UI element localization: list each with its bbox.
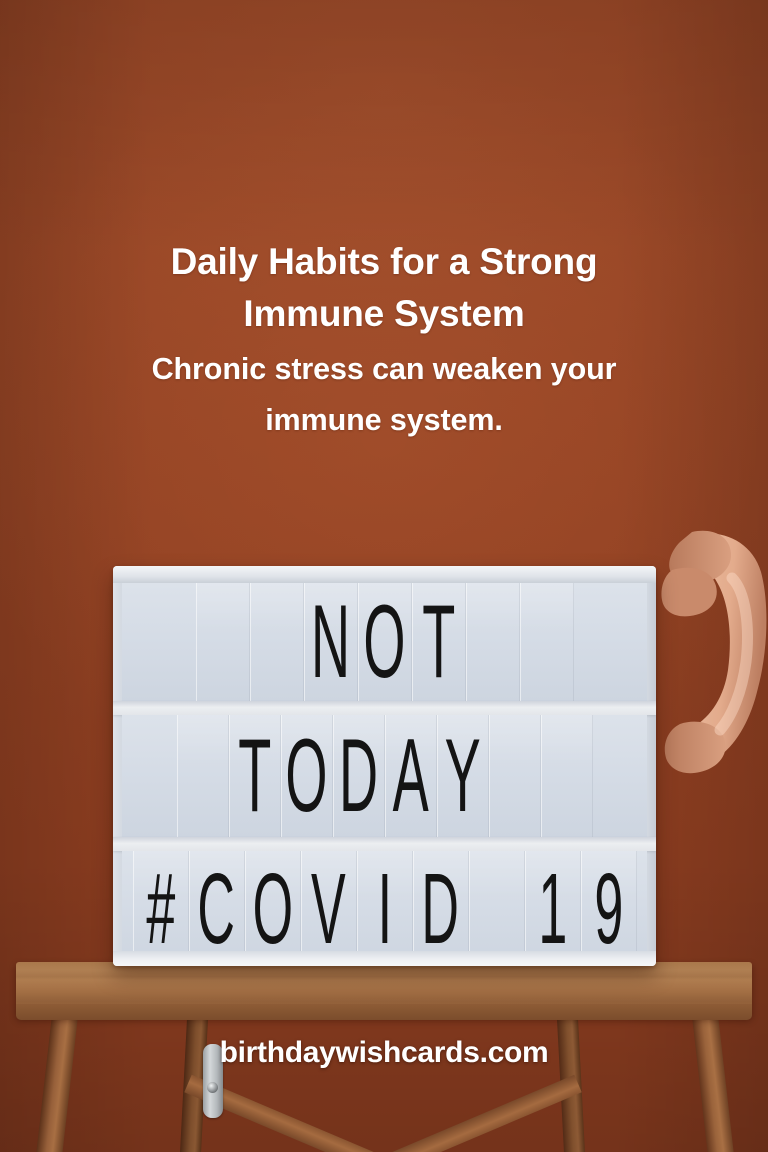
letter-tile bbox=[250, 583, 304, 701]
stool-seat-front-edge bbox=[16, 1004, 752, 1020]
letter-tile bbox=[196, 583, 250, 701]
letter-tile: T bbox=[412, 583, 466, 701]
lightbox-row-2-tiles: T O D A Y bbox=[122, 715, 647, 837]
letter-tile-strip: N O T bbox=[196, 583, 574, 701]
lightbox-top-rail bbox=[113, 566, 656, 583]
lightbox-row-3: # C O V I D 1 9 bbox=[122, 851, 647, 966]
subheadline-line-1: Chronic stress can weaken your bbox=[48, 344, 720, 395]
letter-tile: Y bbox=[437, 715, 489, 837]
text-overlay: Daily Habits for a Strong Immune System … bbox=[0, 236, 768, 446]
lightbox-divider-2 bbox=[113, 837, 656, 851]
letter-tile: D bbox=[333, 715, 385, 837]
lightbox-row-3-tiles: # C O V I D 1 9 bbox=[122, 851, 647, 966]
stool-hinge-screw bbox=[207, 1082, 218, 1093]
letter-tile: O bbox=[358, 583, 412, 701]
letter-tile bbox=[489, 715, 541, 837]
lightbox-bottom-rail bbox=[113, 951, 656, 966]
letter-tile: T bbox=[229, 715, 281, 837]
lightbox-divider-1 bbox=[113, 701, 656, 715]
letter-tile bbox=[520, 583, 574, 701]
letter-tile bbox=[469, 851, 525, 966]
letter-tile: O bbox=[245, 851, 301, 966]
letter-tile bbox=[466, 583, 520, 701]
headline-line-1: Daily Habits for a Strong bbox=[42, 236, 726, 288]
letter-tile-strip: # C O V I D 1 9 bbox=[133, 851, 637, 966]
letter-tile: 9 bbox=[581, 851, 637, 966]
letter-tile: C bbox=[189, 851, 245, 966]
lightbox-row-2: T O D A Y bbox=[122, 715, 647, 837]
letter-tile: V bbox=[301, 851, 357, 966]
headline: Daily Habits for a Strong Immune System bbox=[0, 236, 768, 340]
lightbox-sign: N O T T O D A Y bbox=[113, 566, 656, 966]
letter-tile: D bbox=[413, 851, 469, 966]
website-watermark[interactable]: birthdaywishcards.com bbox=[0, 1036, 768, 1070]
letter-tile: N bbox=[304, 583, 358, 701]
lightbox-row-1-tiles: N O T bbox=[122, 583, 647, 701]
subheadline-line-2: immune system. bbox=[48, 395, 720, 446]
letter-tile: O bbox=[281, 715, 333, 837]
letter-tile bbox=[541, 715, 593, 837]
lightbox-right-rail bbox=[647, 583, 656, 951]
letter-tile: A bbox=[385, 715, 437, 837]
lightbox-row-1: N O T bbox=[122, 583, 647, 701]
letter-tile bbox=[177, 715, 229, 837]
subheadline: Chronic stress can weaken your immune sy… bbox=[0, 344, 768, 446]
letter-tile: I bbox=[357, 851, 413, 966]
hand-knuckles bbox=[661, 568, 716, 617]
letter-tile-strip: T O D A Y bbox=[177, 715, 593, 837]
pin-image-canvas: Daily Habits for a Strong Immune System … bbox=[0, 0, 768, 1152]
lightbox-left-rail bbox=[113, 583, 122, 951]
headline-line-2: Immune System bbox=[42, 288, 726, 340]
letter-tile: 1 bbox=[525, 851, 581, 966]
letter-tile: # bbox=[133, 851, 189, 966]
